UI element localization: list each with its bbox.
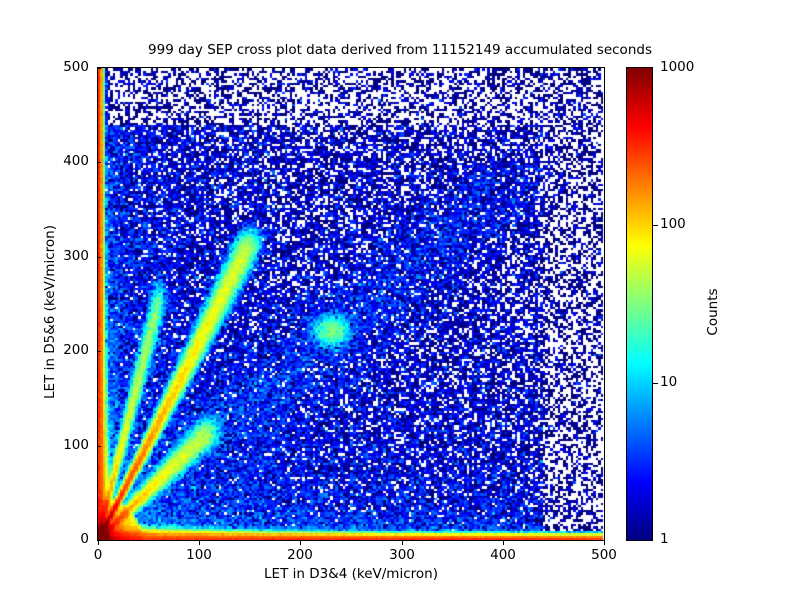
x-tick-label-500: 500 [574, 547, 634, 563]
y-axis-label: LET in D5&6 (keV/micron) [42, 182, 58, 442]
colorbar-tick-10 [653, 383, 658, 384]
x-tick-label-300: 300 [372, 547, 432, 563]
y-tick-label-0: 0 [37, 531, 89, 547]
x-tick-400 [503, 541, 504, 545]
plot-title-line-1: 999 day SEP cross plot data derived from… [0, 42, 800, 59]
colorbar-tick-label-1000: 1000 [660, 59, 694, 75]
figure-canvas: 999 day SEP cross plot data derived from… [0, 0, 800, 600]
x-tick-label-100: 100 [169, 547, 229, 563]
x-tick-label-0: 0 [68, 547, 128, 563]
colorbar-gradient [627, 68, 652, 540]
x-tick-500 [604, 541, 605, 545]
x-axis-label: LET in D3&4 (keV/micron) [97, 566, 605, 582]
y-tick-500 [97, 68, 101, 69]
x-tick-label-400: 400 [473, 547, 533, 563]
y-tick-100 [97, 446, 101, 447]
y-tick-300 [97, 257, 101, 258]
colorbar-tick-label-1: 1 [660, 531, 669, 547]
y-tick-0 [97, 540, 101, 541]
x-tick-300 [402, 541, 403, 545]
density-scatter-canvas [98, 68, 604, 540]
colorbar-tick-label-10: 10 [660, 374, 677, 390]
y-tick-200 [97, 351, 101, 352]
x-tick-200 [300, 541, 301, 545]
colorbar-tick-100 [653, 225, 658, 226]
x-tick-0 [98, 541, 99, 545]
colorbar [626, 67, 653, 541]
colorbar-label: Counts [705, 232, 721, 392]
colorbar-tick-label-100: 100 [660, 216, 686, 232]
x-tick-100 [199, 541, 200, 545]
y-tick-label-400: 400 [37, 153, 89, 169]
x-tick-label-200: 200 [270, 547, 330, 563]
y-tick-label-500: 500 [37, 59, 89, 75]
y-tick-400 [97, 162, 101, 163]
scatter-plot-area [97, 67, 605, 541]
